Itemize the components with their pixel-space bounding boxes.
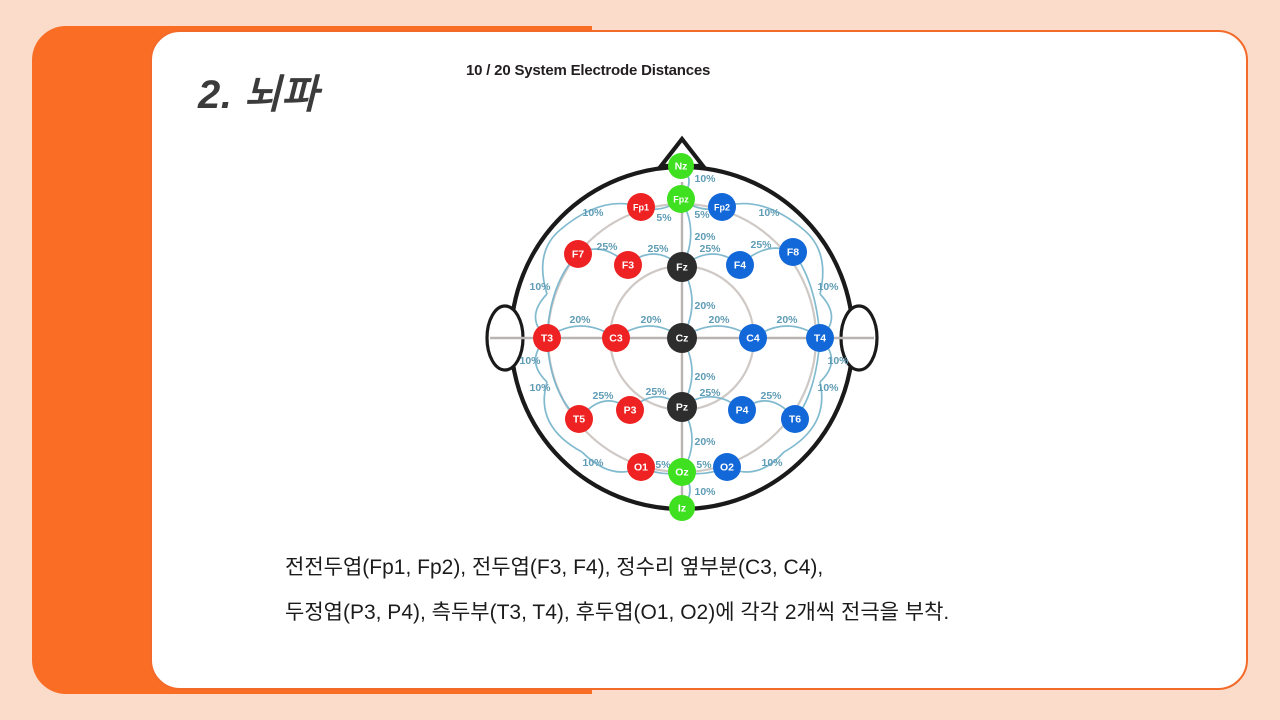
electrode-t5[interactable]: T5: [565, 405, 593, 433]
page-title: 2. 뇌파: [198, 62, 319, 120]
electrode-label: F3: [622, 260, 634, 272]
electrode-label: Oz: [675, 467, 688, 479]
electrode-f3[interactable]: F3: [614, 251, 642, 279]
distance-label: 5%: [694, 209, 710, 221]
distance-label: 10%: [817, 382, 839, 394]
electrode-label: P4: [736, 405, 749, 417]
electrode-label: C4: [746, 333, 760, 345]
electrode-o1[interactable]: O1: [627, 453, 655, 481]
electrode-fp2[interactable]: Fp2: [708, 193, 736, 221]
distance-label: 10%: [817, 281, 839, 293]
distance-label: 10%: [758, 207, 780, 219]
electrode-label: T5: [573, 414, 585, 426]
electrode-cz[interactable]: Cz: [667, 323, 697, 353]
distance-label: 10%: [694, 486, 716, 498]
electrode-label: F8: [787, 247, 799, 259]
electrode-label: Pz: [676, 402, 688, 414]
diagram-title: 10 / 20 System Electrode Distances: [466, 62, 710, 79]
electrode-label: T4: [814, 333, 826, 345]
caption-line-1: 전전두엽(Fp1, Fp2), 전두엽(F3, F4), 정수리 옆부분(C3,…: [285, 545, 1165, 590]
electrode-oz[interactable]: Oz: [668, 458, 696, 486]
electrode-label: O2: [720, 462, 734, 474]
caption-block: 전전두엽(Fp1, Fp2), 전두엽(F3, F4), 정수리 옆부분(C3,…: [285, 545, 1165, 635]
distance-label: 25%: [699, 387, 721, 399]
electrode-p4[interactable]: P4: [728, 396, 756, 424]
distance-label: 25%: [592, 390, 614, 402]
electrode-label: Iz: [678, 503, 686, 515]
electrode-o2[interactable]: O2: [713, 453, 741, 481]
electrode-f8[interactable]: F8: [779, 238, 807, 266]
electrode-t6[interactable]: T6: [781, 405, 809, 433]
electrode-label: Fp2: [714, 203, 730, 213]
distance-label: 10%: [761, 457, 783, 469]
distance-label: 20%: [694, 231, 716, 243]
electrode-iz[interactable]: Iz: [669, 495, 695, 521]
distance-label: 10%: [529, 281, 551, 293]
electrode-label: Fp1: [633, 203, 649, 213]
distance-label: 5%: [696, 459, 712, 471]
distance-label: 25%: [647, 243, 669, 255]
electrode-nz[interactable]: Nz: [668, 153, 694, 179]
electrode-label: Cz: [676, 333, 689, 345]
electrode-fpz[interactable]: Fpz: [667, 185, 695, 213]
distance-label: 10%: [582, 207, 604, 219]
electrode-label: Nz: [675, 161, 688, 173]
electrode-label: T3: [541, 333, 553, 345]
distance-label: 25%: [645, 386, 667, 398]
distance-label: 10%: [694, 173, 716, 185]
distance-label: 10%: [529, 382, 551, 394]
distance-label: 10%: [827, 355, 849, 367]
electrode-c4[interactable]: C4: [739, 324, 767, 352]
electrode-label: F4: [734, 260, 746, 272]
electrode-fp1[interactable]: Fp1: [627, 193, 655, 221]
eeg-electrode-diagram: 10%5%5%10%10%20%25%25%25%25%10%10%20%20%…: [462, 122, 902, 534]
distance-label: 25%: [760, 390, 782, 402]
electrode-t3[interactable]: T3: [533, 324, 561, 352]
electrode-f7[interactable]: F7: [564, 240, 592, 268]
distance-label: 5%: [656, 212, 672, 224]
electrode-c3[interactable]: C3: [602, 324, 630, 352]
distance-label: 20%: [694, 300, 716, 312]
electrode-p3[interactable]: P3: [616, 396, 644, 424]
caption-line-2: 두정엽(P3, P4), 측두부(T3, T4), 후두엽(O1, O2)에 각…: [285, 590, 1165, 635]
distance-label: 10%: [519, 355, 541, 367]
electrode-label: P3: [624, 405, 637, 417]
distance-label: 20%: [640, 314, 662, 326]
electrode-label: C3: [609, 333, 623, 345]
distance-label: 20%: [694, 436, 716, 448]
distance-label: 20%: [776, 314, 798, 326]
electrode-f4[interactable]: F4: [726, 251, 754, 279]
electrode-fz[interactable]: Fz: [667, 252, 697, 282]
electrode-label: T6: [789, 414, 801, 426]
electrode-label: Fpz: [673, 195, 689, 205]
distance-label: 20%: [708, 314, 730, 326]
distance-label: 25%: [699, 243, 721, 255]
electrode-label: O1: [634, 462, 648, 474]
electrode-t4[interactable]: T4: [806, 324, 834, 352]
distance-label: 20%: [694, 371, 716, 383]
distance-label: 20%: [569, 314, 591, 326]
distance-label: 25%: [750, 239, 772, 251]
electrode-label: F7: [572, 249, 584, 261]
electrode-pz[interactable]: Pz: [667, 392, 697, 422]
distance-label: 10%: [582, 457, 604, 469]
distance-label: 25%: [596, 241, 618, 253]
electrode-label: Fz: [676, 262, 688, 274]
